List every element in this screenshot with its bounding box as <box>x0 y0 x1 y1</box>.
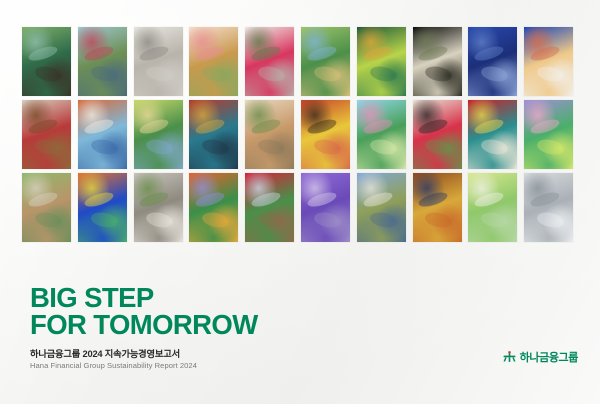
brush-stroke <box>27 116 59 136</box>
brush-stroke <box>362 43 394 63</box>
artwork-tile <box>301 173 350 242</box>
artwork-tile <box>78 173 127 242</box>
artwork-tile <box>78 27 127 96</box>
cover-subtitle-korean: 하나금융그룹 2024 지속가능경영보고서 <box>30 346 180 360</box>
artwork-tile <box>524 27 573 96</box>
brush-stroke <box>194 43 226 63</box>
brush-stroke <box>473 43 505 63</box>
artwork-tile <box>134 173 183 242</box>
brush-stroke <box>368 64 398 83</box>
brush-stroke <box>313 137 343 156</box>
artwork-tile <box>301 100 350 169</box>
brush-stroke <box>145 210 175 229</box>
brush-stroke <box>139 189 171 209</box>
brush-stroke <box>417 43 449 63</box>
artwork-tile <box>357 100 406 169</box>
artwork-tile <box>413 100 462 169</box>
artwork-tile <box>189 173 238 242</box>
brush-stroke <box>201 137 231 156</box>
brush-stroke <box>145 137 175 156</box>
artwork-tile <box>245 27 294 96</box>
report-cover-page: BIG STEP FOR TOMORROW 하나금융그룹 2024 지속가능경영… <box>0 0 600 404</box>
brush-stroke <box>417 189 449 209</box>
brush-stroke <box>257 64 287 83</box>
artwork-tile <box>245 173 294 242</box>
artwork-grid <box>22 27 572 242</box>
brush-stroke <box>201 64 231 83</box>
brush-stroke <box>417 116 449 136</box>
brush-stroke <box>424 210 454 229</box>
hana-financial-group-logo: 하나금융그룹 <box>503 351 578 365</box>
artwork-tile <box>357 27 406 96</box>
artwork-tile <box>413 173 462 242</box>
brush-stroke <box>83 116 115 136</box>
brush-stroke <box>194 116 226 136</box>
brush-stroke <box>34 137 64 156</box>
artwork-tile <box>524 173 573 242</box>
brush-stroke <box>473 116 505 136</box>
brush-stroke <box>201 210 231 229</box>
brush-stroke <box>368 210 398 229</box>
artwork-tile <box>524 100 573 169</box>
artwork-tile <box>468 100 517 169</box>
artwork-tile <box>189 100 238 169</box>
brush-stroke <box>536 64 566 83</box>
artwork-tile <box>245 100 294 169</box>
brush-stroke <box>424 64 454 83</box>
brush-stroke <box>89 210 119 229</box>
brush-stroke <box>139 43 171 63</box>
brush-stroke <box>250 189 282 209</box>
artwork-tile <box>357 173 406 242</box>
brush-stroke <box>27 43 59 63</box>
brush-stroke <box>536 137 566 156</box>
artwork-tile <box>22 27 71 96</box>
brush-stroke <box>194 189 226 209</box>
brush-stroke <box>306 189 338 209</box>
brush-stroke <box>529 43 561 63</box>
brush-stroke <box>257 137 287 156</box>
cover-subtitle-english: Hana Financial Group Sustainability Repo… <box>30 361 197 370</box>
brush-stroke <box>89 137 119 156</box>
brush-stroke <box>313 210 343 229</box>
brush-stroke <box>145 64 175 83</box>
brush-stroke <box>89 64 119 83</box>
brush-stroke <box>362 116 394 136</box>
brush-stroke <box>480 137 510 156</box>
artwork-tile <box>301 27 350 96</box>
brush-stroke <box>250 43 282 63</box>
brush-stroke <box>83 43 115 63</box>
brush-stroke <box>306 43 338 63</box>
brush-stroke <box>34 210 64 229</box>
brush-stroke <box>250 116 282 136</box>
artwork-tile <box>134 27 183 96</box>
artwork-tile <box>468 27 517 96</box>
brush-stroke <box>480 64 510 83</box>
hana-logo-wordmark: 하나금융그룹 <box>520 353 578 364</box>
brush-stroke <box>257 210 287 229</box>
cover-headline: BIG STEP FOR TOMORROW <box>30 284 258 338</box>
brush-stroke <box>536 210 566 229</box>
brush-stroke <box>34 64 64 83</box>
brush-stroke <box>27 189 59 209</box>
brush-stroke <box>424 137 454 156</box>
brush-stroke <box>480 210 510 229</box>
brush-stroke <box>83 189 115 209</box>
artwork-tile <box>78 100 127 169</box>
brush-stroke <box>306 116 338 136</box>
artwork-tile <box>22 173 71 242</box>
brush-stroke <box>139 116 171 136</box>
brush-stroke <box>529 116 561 136</box>
artwork-tile <box>134 100 183 169</box>
brush-stroke <box>368 137 398 156</box>
brush-stroke <box>362 189 394 209</box>
artwork-tile <box>22 100 71 169</box>
hana-logo-mark-icon <box>503 351 516 365</box>
brush-stroke <box>313 64 343 83</box>
artwork-tile <box>468 173 517 242</box>
artwork-tile <box>189 27 238 96</box>
brush-stroke <box>473 189 505 209</box>
brush-stroke <box>529 189 561 209</box>
artwork-tile <box>413 27 462 96</box>
